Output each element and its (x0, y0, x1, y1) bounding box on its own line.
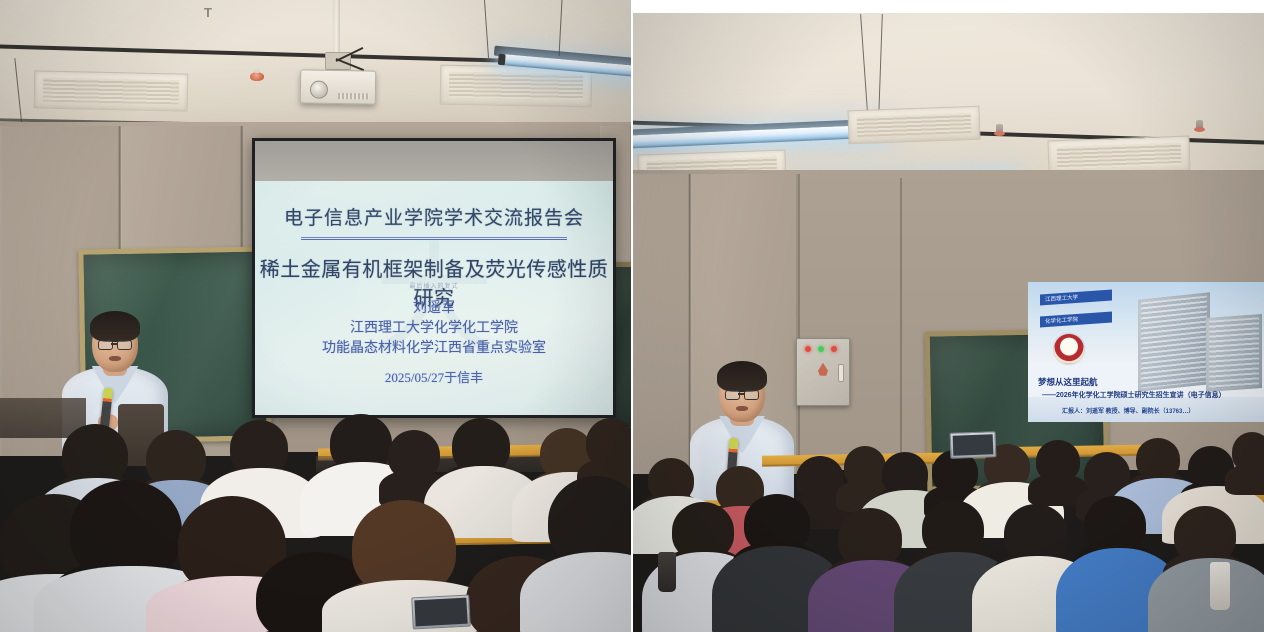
audience-head (62, 424, 128, 486)
right-photo-panel: 江西理工大学 化学化工学院 梦想从这里起航 ——2026年化学化工学院硕士研究生… (632, 0, 1264, 632)
slide-byline: 汇报人：刘遥军 教授、博导、副院长（13763…） (1062, 406, 1194, 415)
eyeglasses-icon (98, 340, 133, 349)
audience-head (1084, 496, 1146, 554)
audience-shoulders (1148, 558, 1264, 632)
wall-panel (632, 174, 690, 474)
audience-head (1036, 440, 1080, 482)
speaker-mouth (736, 406, 749, 411)
slide-banner-university-label: 江西理工大学 (1045, 293, 1078, 303)
status-leds (805, 346, 837, 352)
audience-head (388, 430, 440, 480)
university-crest-icon (1054, 334, 1084, 364)
screenshot-root: T T (0, 0, 1264, 632)
audience-head (1232, 432, 1264, 472)
speaker-head (92, 316, 138, 372)
panel-divider (631, 0, 633, 632)
slide-title: 电子信息产业学院学术交流报告会 (255, 203, 613, 230)
fire-alarm-icon (818, 363, 828, 376)
audience-head (744, 494, 810, 554)
slide-subline: ——2026年化学化工学院硕士研究生招生宣讲（电子信息） (1042, 390, 1226, 400)
wall-seam (900, 178, 902, 474)
air-conditioner-vent (440, 65, 593, 108)
slide-building-photo (1206, 314, 1262, 392)
slide-organization-line-1: 江西理工大学化学化工学院 (255, 317, 613, 337)
panel-handle[interactable] (838, 364, 844, 382)
speaker-hair (717, 361, 768, 392)
slide-micro-note: 最后插入的复式 (255, 281, 613, 290)
speaker-head (719, 366, 765, 422)
left-photo-panel: T T (0, 0, 632, 632)
sprinkler-head-icon (996, 124, 1003, 135)
audience-head (922, 500, 984, 558)
audience-head (1174, 506, 1236, 564)
audience-head (844, 446, 886, 488)
laptop (411, 595, 471, 630)
sprinkler-head-icon (1196, 120, 1203, 131)
wall-control-panel[interactable] (796, 338, 850, 406)
air-conditioner-vent (847, 106, 980, 145)
audience-head (1136, 438, 1180, 480)
audience-head (70, 480, 182, 580)
projected-slide: 大 电子信息产业学院学术交流报告会 稀土金属有机框架制备及荧光传感性质研究 最后… (255, 181, 613, 415)
air-conditioner-vent (34, 70, 189, 111)
slide-headline: 梦想从这里起航 (1038, 376, 1098, 388)
ceiling-bracket: T (204, 6, 212, 19)
slide-banner-college-label: 化学化工学院 (1045, 315, 1078, 325)
led-indicator-red (831, 346, 837, 352)
projector-pole (333, 0, 340, 56)
water-bottle (1210, 562, 1230, 610)
right-lecture-hall-scene: 江西理工大学 化学化工学院 梦想从这里起航 ——2026年化学化工学院硕士研究生… (632, 0, 1264, 632)
led-indicator-red (805, 346, 811, 352)
ceiling-projector (300, 69, 377, 104)
projection-screen: 大 电子信息产业学院学术交流报告会 稀土金属有机框架制备及荧光传感性质研究 最后… (252, 138, 616, 418)
speaker-mouth (109, 356, 122, 361)
slide-title-rule (301, 237, 567, 241)
screen-top-band (255, 141, 613, 181)
right-panel-top-white-strip (632, 0, 1264, 13)
speaker-hair (90, 311, 141, 342)
audience-head (586, 418, 632, 468)
eyeglasses-icon (725, 390, 760, 399)
led-indicator-green (818, 346, 824, 352)
slide-organization-line-2: 功能晶态材料化学江西省重点实验室 (255, 337, 613, 357)
left-lecture-hall-scene: T T (0, 0, 632, 632)
slide-date-place: 2025/05/27于信丰 (255, 367, 613, 386)
audience-head (838, 508, 902, 568)
audience-head (1004, 504, 1068, 564)
projection-screen: 江西理工大学 化学化工学院 梦想从这里起航 ——2026年化学化工学院硕士研究生… (1028, 282, 1264, 422)
slide-presenter-name: 刘遥军 (255, 297, 613, 317)
water-bottle (658, 552, 676, 592)
smoke-detector-icon (250, 72, 264, 81)
laptop (950, 431, 997, 459)
projector-lens-icon (310, 80, 328, 98)
projector-vent (338, 93, 369, 99)
slide-building-photo (1138, 292, 1210, 392)
wall-seam (798, 174, 800, 474)
